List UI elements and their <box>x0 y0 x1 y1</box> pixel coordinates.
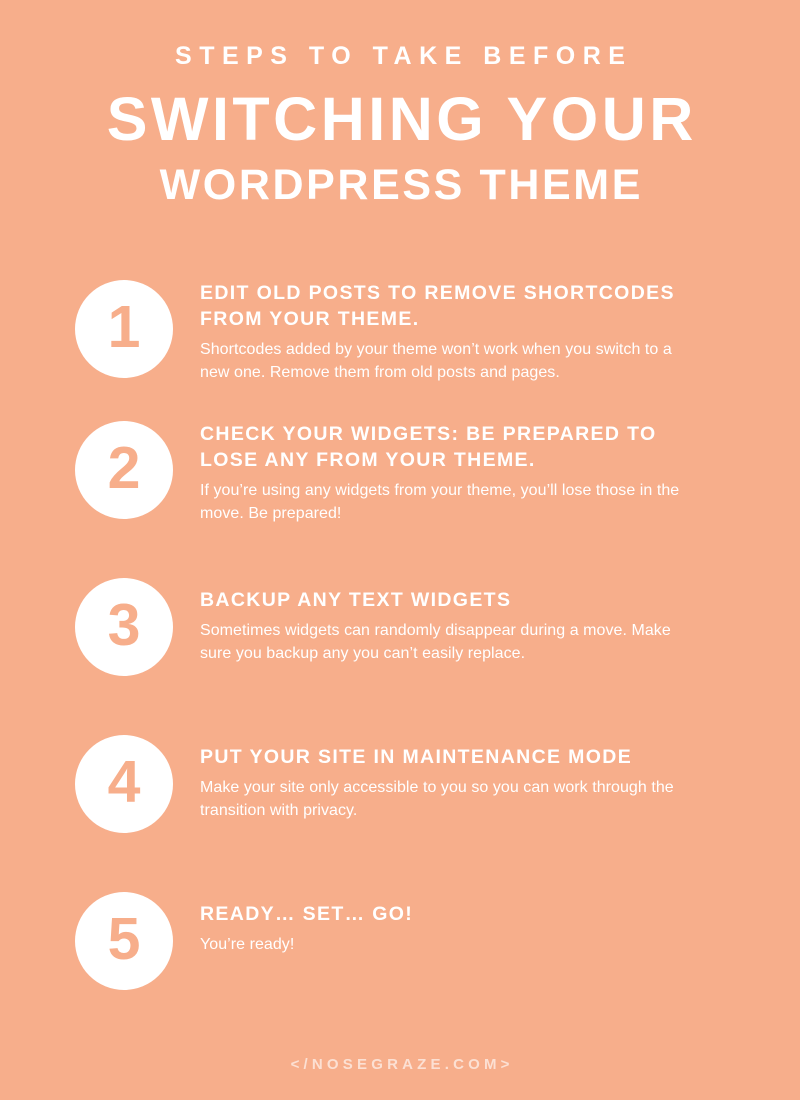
header-title-line1: SWITCHING YOUR <box>0 88 800 150</box>
step-content: CHECK YOUR WIDGETS: BE PREPARED TO LOSE … <box>200 421 700 525</box>
step-number-badge: 3 <box>75 578 173 676</box>
steps-list: 1 EDIT OLD POSTS TO REMOVE SHORTCODES FR… <box>0 262 800 1032</box>
poster-header: STEPS TO TAKE BEFORE SWITCHING YOUR WORD… <box>0 0 800 208</box>
step-title: PUT YOUR SITE IN MAINTENANCE MODE <box>200 744 700 770</box>
poster-footer: </NOSEGRAZE.COM> <box>0 1057 800 1072</box>
step-description: If you’re using any widgets from your th… <box>200 479 700 525</box>
step-description: Make your site only accessible to you so… <box>200 776 700 822</box>
step-number-badge: 4 <box>75 735 173 833</box>
step-number-label: 5 <box>108 910 141 969</box>
step-item: 5 READY… SET… GO! You’re ready! <box>0 875 800 1032</box>
step-number-label: 4 <box>108 753 141 812</box>
step-description: Sometimes widgets can randomly disappear… <box>200 619 700 665</box>
infographic-poster: STEPS TO TAKE BEFORE SWITCHING YOUR WORD… <box>0 0 800 1100</box>
header-eyebrow: STEPS TO TAKE BEFORE <box>0 44 800 69</box>
step-content: BACKUP ANY TEXT WIDGETS Sometimes widget… <box>200 587 700 665</box>
step-item: 4 PUT YOUR SITE IN MAINTENANCE MODE Make… <box>0 718 800 875</box>
footer-site-url: </NOSEGRAZE.COM> <box>0 1057 800 1072</box>
step-number-badge: 5 <box>75 892 173 990</box>
step-description: You’re ready! <box>200 933 700 956</box>
step-description: Shortcodes added by your theme won’t wor… <box>200 338 700 384</box>
header-title-line2: WORDPRESS THEME <box>0 163 800 208</box>
step-content: EDIT OLD POSTS TO REMOVE SHORTCODES FROM… <box>200 280 700 384</box>
step-number-badge: 1 <box>75 280 173 378</box>
step-number-badge: 2 <box>75 421 173 519</box>
step-title: READY… SET… GO! <box>200 901 700 927</box>
step-title: BACKUP ANY TEXT WIDGETS <box>200 587 700 613</box>
step-content: PUT YOUR SITE IN MAINTENANCE MODE Make y… <box>200 744 700 822</box>
step-item: 2 CHECK YOUR WIDGETS: BE PREPARED TO LOS… <box>0 404 800 561</box>
step-item: 1 EDIT OLD POSTS TO REMOVE SHORTCODES FR… <box>0 262 800 404</box>
step-number-label: 2 <box>108 439 141 498</box>
step-number-label: 3 <box>108 596 141 655</box>
step-content: READY… SET… GO! You’re ready! <box>200 901 700 956</box>
step-number-label: 1 <box>108 298 141 357</box>
step-item: 3 BACKUP ANY TEXT WIDGETS Sometimes widg… <box>0 561 800 718</box>
step-title: EDIT OLD POSTS TO REMOVE SHORTCODES FROM… <box>200 280 700 332</box>
step-title: CHECK YOUR WIDGETS: BE PREPARED TO LOSE … <box>200 421 700 473</box>
